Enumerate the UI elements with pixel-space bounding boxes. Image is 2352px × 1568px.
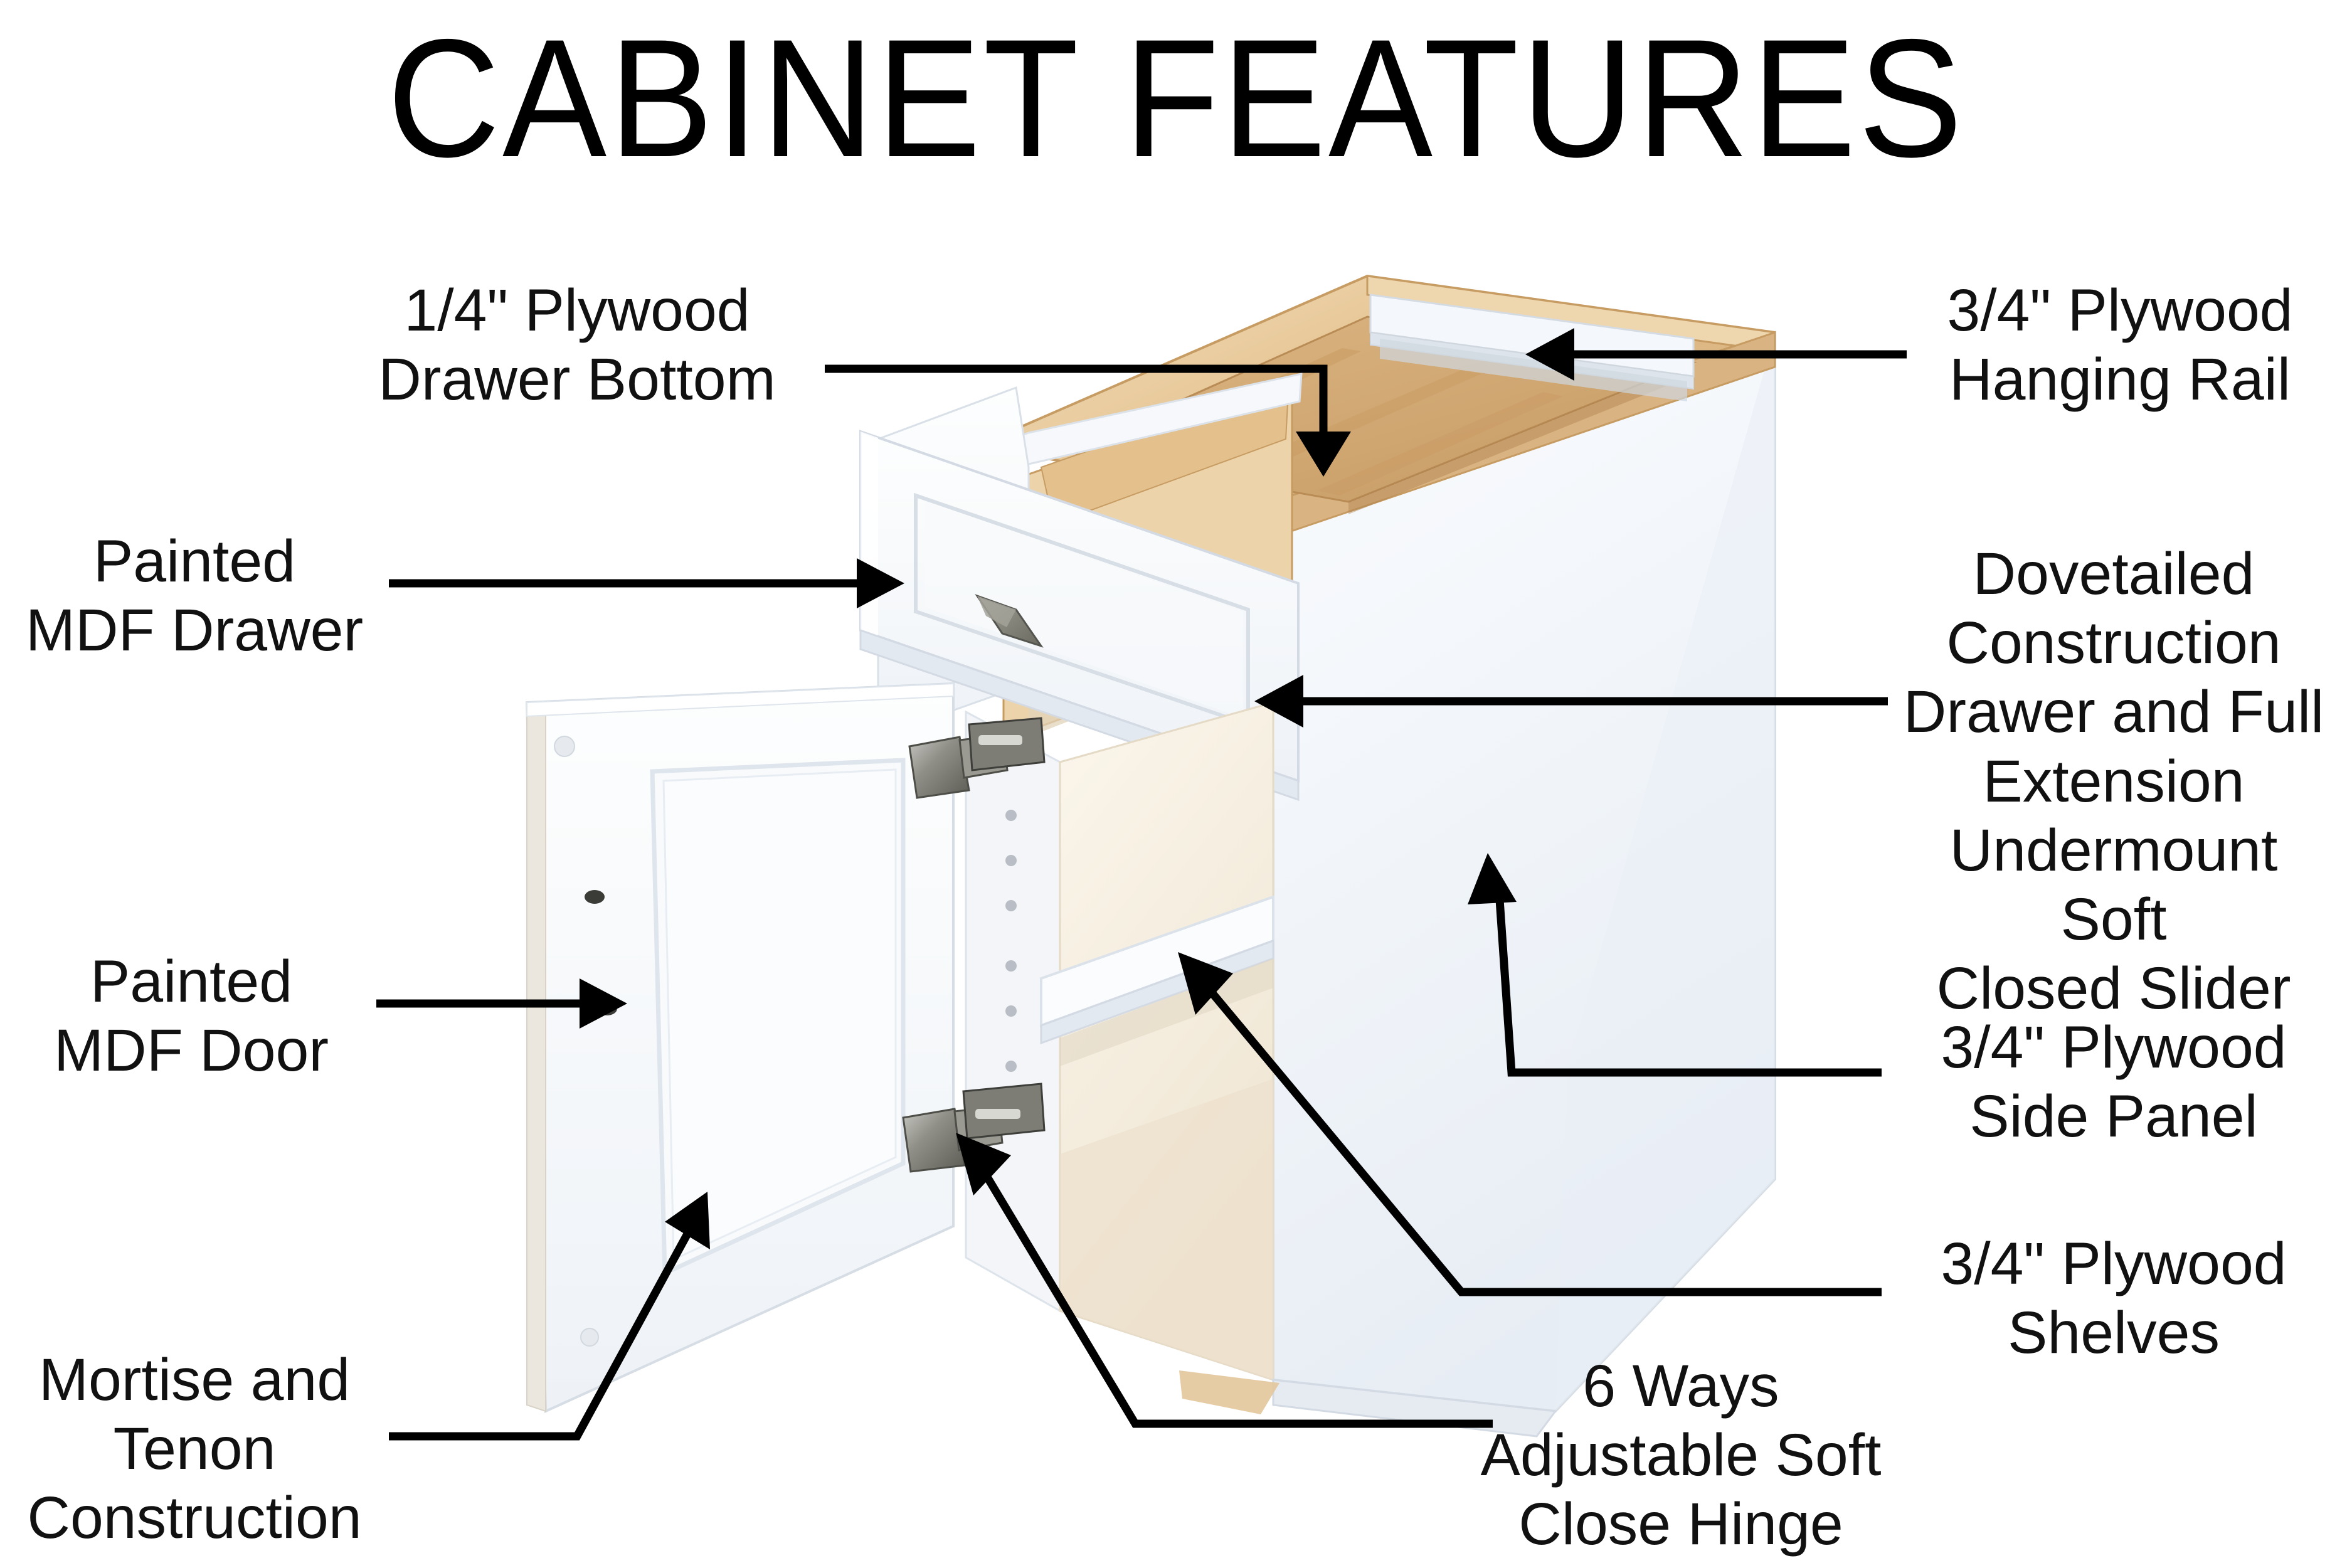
label-mortise-tenon: Mortise and Tenon Construction <box>6 1345 383 1553</box>
label-dovetailed-construction: Dovetailed Construction Drawer and Full … <box>1894 539 2333 1023</box>
label-painted-mdf-drawer: Painted MDF Drawer <box>6 527 383 665</box>
label-side-panel: 3/4" Plywood Side Panel <box>1894 1013 2333 1151</box>
infographic-page: CABINET FEATURES <box>0 0 2352 1568</box>
cabinet-door <box>527 684 953 1411</box>
label-drawer-bottom: 1/4" Plywood Drawer Bottom <box>351 276 803 414</box>
label-hinge: 6 Ways Adjustable Soft Close Hinge <box>1461 1352 1900 1559</box>
label-hanging-rail: 3/4" Plywood Hanging Rail <box>1919 276 2321 414</box>
label-painted-mdf-door: Painted MDF Door <box>6 947 376 1085</box>
label-shelves: 3/4" Plywood Shelves <box>1894 1229 2333 1367</box>
